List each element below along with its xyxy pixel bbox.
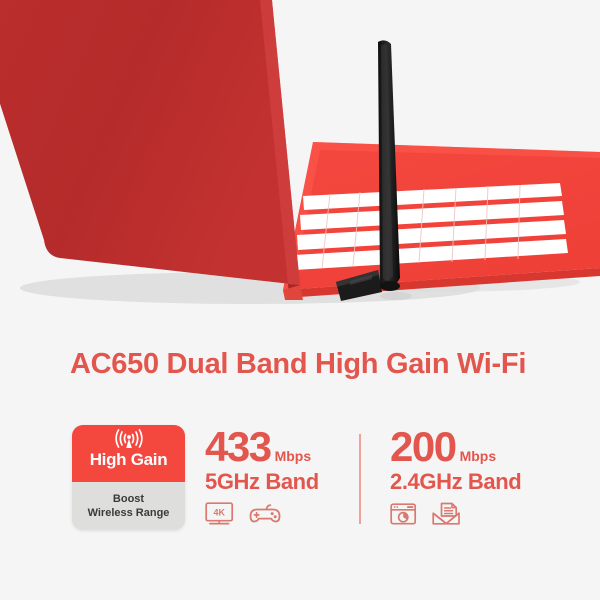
product-feature-page: AC650 Dual Band High Gain Wi-Fi (0, 0, 600, 600)
band-24ghz-rate: 200 Mbps (390, 426, 521, 468)
band-24ghz: 200 Mbps 2.4GHz Band (390, 426, 521, 526)
band-divider (359, 434, 361, 524)
band-24ghz-name: 2.4GHz Band (390, 469, 521, 495)
high-gain-badge-title: High Gain (90, 450, 168, 469)
tv-4k-icon: 4K (205, 502, 235, 526)
antenna-shadow (380, 292, 412, 300)
product-hero-image (0, 0, 600, 330)
band-5ghz-icons: 4K (205, 502, 319, 526)
band-5ghz-name: 5GHz Band (205, 469, 319, 495)
high-gain-badge: High Gain Boost Wireless Range (72, 425, 185, 530)
band-24ghz-unit: Mbps (460, 449, 497, 463)
svg-text:4K: 4K (213, 508, 225, 518)
badge-subtitle-line-1: Boost (113, 492, 144, 506)
band-5ghz: 433 Mbps 5GHz Band 4K (205, 426, 319, 526)
email-icon (431, 502, 461, 526)
high-gain-badge-top: High Gain (72, 425, 185, 482)
band-5ghz-unit: Mbps (275, 449, 312, 463)
signal-antenna-icon (112, 429, 146, 449)
browser-chart-icon (390, 502, 418, 526)
band-24ghz-value: 200 (390, 426, 456, 468)
gamepad-icon (248, 502, 282, 526)
page-title: AC650 Dual Band High Gain Wi-Fi (70, 348, 526, 381)
band-24ghz-icons (390, 502, 521, 526)
band-5ghz-value: 433 (205, 426, 271, 468)
band-5ghz-rate: 433 Mbps (205, 426, 319, 468)
high-gain-badge-subtitle: Boost Wireless Range (72, 482, 185, 530)
badge-subtitle-line-2: Wireless Range (88, 506, 170, 520)
feature-strip: High Gain Boost Wireless Range 433 Mbps … (0, 420, 600, 540)
